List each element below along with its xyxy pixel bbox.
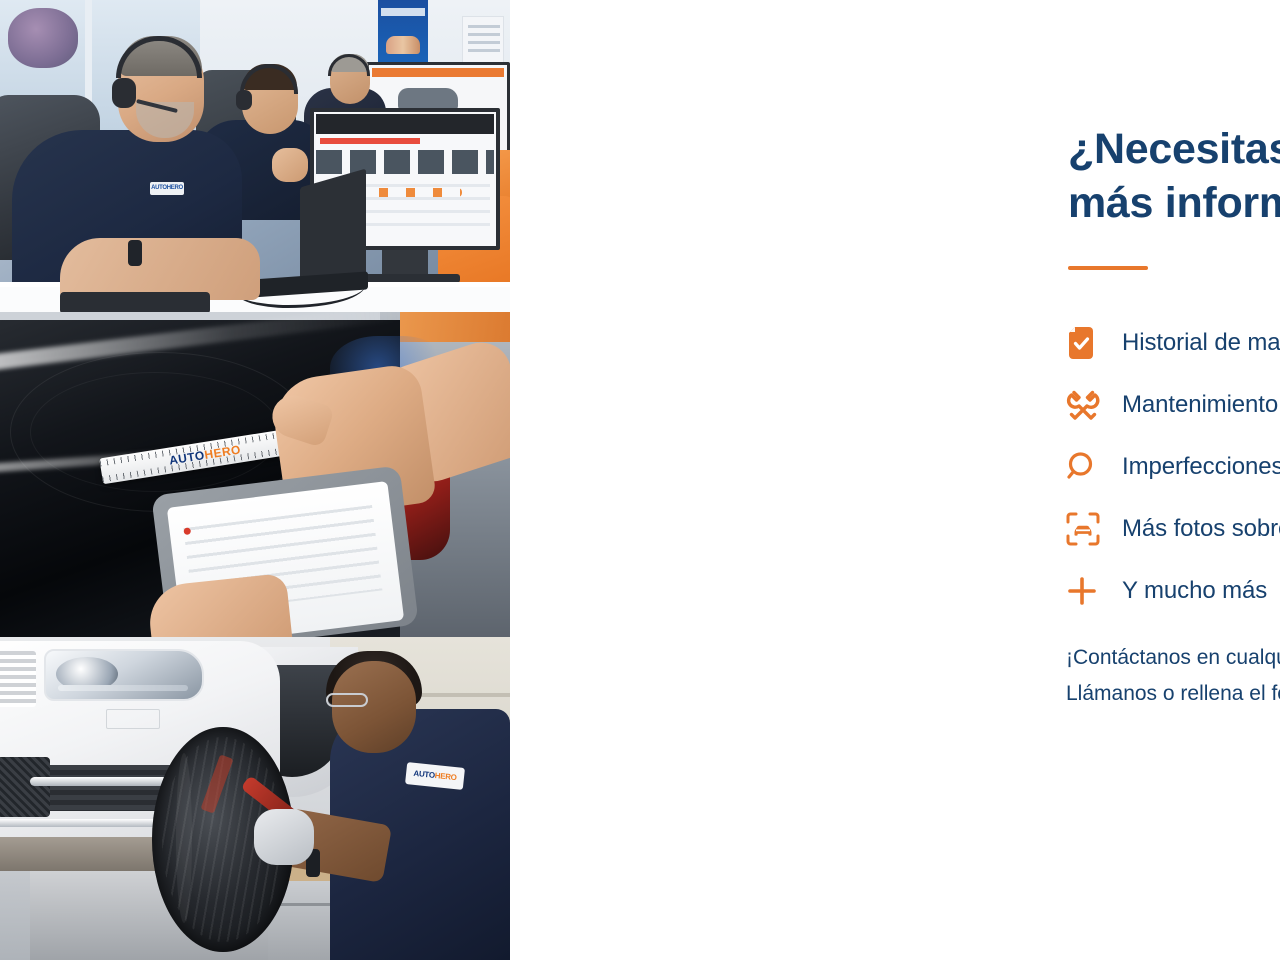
technician-glove-decor [254,809,314,865]
magnifier-icon [1066,451,1122,483]
feature-label: Mantenimiento realizado [1122,391,1280,419]
car-scan-icon [1066,512,1122,546]
technician-head-decor [332,661,416,753]
plus-icon [1066,575,1122,607]
feature-item-maintenance-done: Mantenimiento realizado [1066,374,1280,436]
contact-paragraph: ¡Contáctanos en cualquier momento para m… [1066,640,1280,712]
tyre-fitting-technician-photo: AUTOHERO [0,637,510,960]
tree-decor [8,8,78,68]
paragraph-line-1: ¡Contáctanos en cualquier momento para m… [1066,640,1280,676]
headline-line-2: más información? [1068,176,1280,230]
monitor-car-thumbs-decor [316,150,494,174]
headlight-led-strip-decor [58,685,188,691]
title-divider [1068,266,1148,270]
feature-item-much-more: Y mucho más [1066,560,1280,622]
page-title: ¿Necesitas más información? [1068,122,1280,230]
feature-label: Y mucho más [1122,577,1267,605]
monitor-accent-decor [320,138,420,144]
tools-icon [1066,388,1122,422]
polo-badge-auto: AUTO [413,769,435,780]
far-monitor-topbar-decor [372,68,504,77]
paragraph-line-2: Llámanos o rellena el formulario de cont… [1066,676,1280,712]
tyre-sidewall-decor [176,753,192,923]
poster-band-decor [381,8,425,16]
agent-front-watch-decor [128,240,142,266]
fog-light-grille-decor [0,757,50,817]
agent-mid-earcup-decor [236,90,252,110]
monitor-stand-decor [382,250,428,276]
feature-item-imperfections: Imperfecciones [1066,436,1280,498]
feature-label: Imperfecciones [1122,453,1280,481]
agent-mid-hand-decor [272,148,308,182]
monitor-header-decor [316,114,494,134]
agent-front-arm-decor [60,238,260,300]
tablet-on-desk-decor [60,292,210,312]
far-monitor-car-decor [398,88,458,110]
call-center-agents-photo: AUTOHERO [0,0,510,312]
feature-list: Historial de mantenimientos Mantenimient… [1066,312,1280,622]
car-inspection-ruler-photo: AUTOHERO [0,312,510,637]
promo-banner: AUTOHERO [0,0,1280,960]
info-panel: ¿Necesitas más información? Estamos [510,0,1280,960]
number-plate-recess-decor [106,709,160,729]
feature-label: Más fotos sobre el coche [1122,515,1280,543]
headline-line-1: ¿Necesitas [1068,125,1280,173]
technician-glasses-decor [326,693,368,707]
photo-collage: AUTOHERO [0,0,510,960]
agent-front-logo-badge-decor: AUTOHERO [150,182,184,195]
feature-item-more-photos: Más fotos sobre el coche [1066,498,1280,560]
poster-people-decor [386,36,420,54]
document-check-icon [1066,326,1122,360]
agent-front-earcup-decor [112,78,136,108]
feature-item-maintenance-history: Historial de mantenimientos [1066,312,1280,374]
feature-label: Historial de mantenimientos [1122,329,1280,357]
monitor-icons-decor [352,188,462,197]
polo-badge-hero: HERO [434,771,457,782]
car-grille-decor [0,651,36,707]
